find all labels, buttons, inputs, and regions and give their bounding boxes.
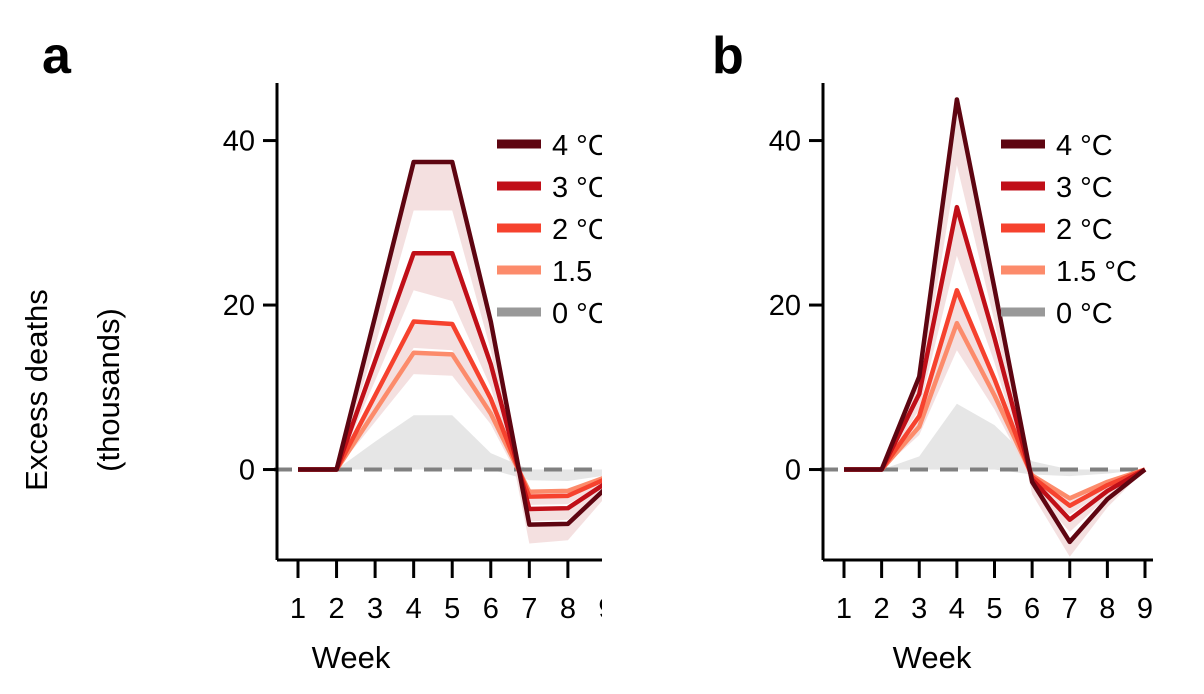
y-tick-label: 40 xyxy=(769,126,801,158)
legend-label: 0 °C xyxy=(1056,298,1113,330)
legend-label: 1.5 °C xyxy=(552,256,602,288)
x-tick-label: 6 xyxy=(483,593,499,625)
x-tick-label: 4 xyxy=(406,593,422,625)
figure-excess-deaths: a Excess deaths (thousands) 020401234567… xyxy=(0,0,1204,694)
legend-label: 3 °C xyxy=(1056,172,1113,204)
x-axis-label-b: Week xyxy=(832,640,1032,676)
legend-label: 4 °C xyxy=(552,130,602,162)
y-tick-label: 20 xyxy=(223,290,255,322)
x-tick-label: 9 xyxy=(1137,593,1153,625)
legend-label: 2 °C xyxy=(1056,214,1113,246)
x-tick-label: 4 xyxy=(949,593,965,625)
x-tick-label: 8 xyxy=(1099,593,1115,625)
x-tick-label: 7 xyxy=(1062,593,1078,625)
legend-label: 1.5 °C xyxy=(1056,256,1137,288)
y-tick-label: 0 xyxy=(239,455,255,487)
x-tick-label: 1 xyxy=(836,593,852,625)
x-tick-label: 7 xyxy=(521,593,537,625)
x-tick-label: 5 xyxy=(986,593,1002,625)
x-tick-label: 6 xyxy=(1024,593,1040,625)
legend-label: 4 °C xyxy=(1056,130,1113,162)
x-tick-label: 1 xyxy=(290,593,306,625)
y-tick-label: 40 xyxy=(223,126,255,158)
y-tick-label: 0 xyxy=(785,455,801,487)
x-tick-label: 2 xyxy=(874,593,890,625)
panel-a: a Excess deaths (thousands) 020401234567… xyxy=(0,0,602,694)
x-tick-label: 3 xyxy=(367,593,383,625)
plot-area-b: 020401234567894 °C3 °C2 °C1.5 °C0 °C xyxy=(602,0,1204,694)
x-tick-label: 5 xyxy=(444,593,460,625)
x-tick-label: 8 xyxy=(560,593,576,625)
x-tick-label: 2 xyxy=(328,593,344,625)
panel-b: b 020401234567894 °C3 °C2 °C1.5 °C0 °C W… xyxy=(602,0,1204,694)
legend-label: 3 °C xyxy=(552,172,602,204)
y-tick-label: 20 xyxy=(769,290,801,322)
legend-label: 2 °C xyxy=(552,214,602,246)
x-axis-label-a: Week xyxy=(251,640,451,676)
x-tick-label: 3 xyxy=(911,593,927,625)
plot-area-a: 02040123456789104 °C3 °C2 °C1.5 °C0 °C xyxy=(0,0,602,694)
legend-label: 0 °C xyxy=(552,298,602,330)
